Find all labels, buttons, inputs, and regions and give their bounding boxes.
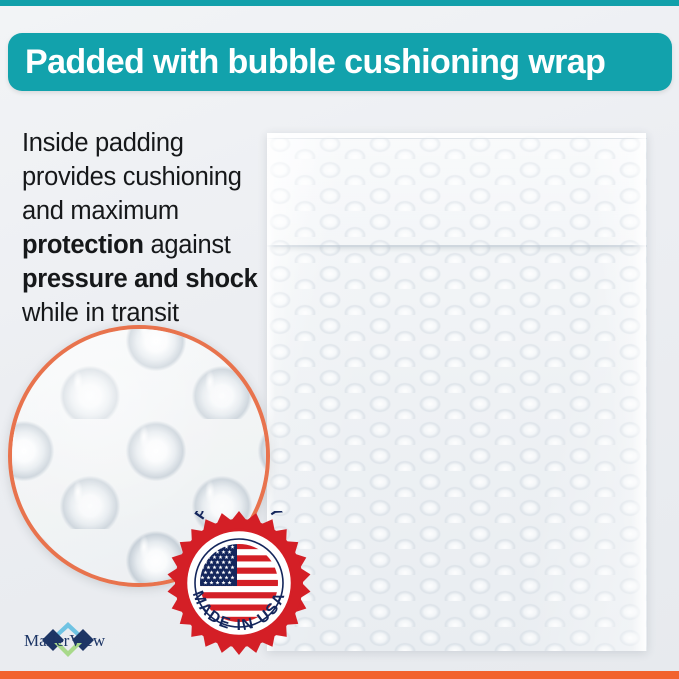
headline-banner: Padded with bubble cushioning wrap bbox=[8, 33, 672, 91]
product-marketing-image: Padded with bubble cushioning wrap Insid… bbox=[0, 0, 679, 679]
envelope-flap-edge bbox=[267, 133, 647, 139]
feature-description: Inside padding provides cushioning and m… bbox=[22, 127, 272, 330]
copy-line-4-rest: against bbox=[144, 231, 231, 259]
top-accent-strip bbox=[0, 0, 679, 6]
headline-text: Padded with bubble cushioning wrap bbox=[8, 45, 605, 79]
copy-line-3: and maximum bbox=[22, 195, 272, 229]
copy-line-5: pressure and shock bbox=[22, 263, 272, 297]
envelope-right-edge bbox=[632, 133, 647, 651]
copy-line-4: protection against bbox=[22, 229, 272, 263]
copy-line-1: Inside padding bbox=[22, 127, 272, 161]
bottom-accent-strip bbox=[0, 671, 679, 679]
copy-line-2: provides cushioning bbox=[22, 161, 272, 195]
envelope-flap bbox=[267, 133, 647, 247]
copy-line-4-bold: protection bbox=[22, 231, 144, 259]
mailer-envelope-image bbox=[267, 133, 647, 651]
made-in-usa-badge: PROUDLY MADE IN USA bbox=[167, 511, 311, 655]
brand-logo: MailerView bbox=[22, 615, 126, 665]
logo-wordmark: MailerView bbox=[24, 631, 106, 650]
